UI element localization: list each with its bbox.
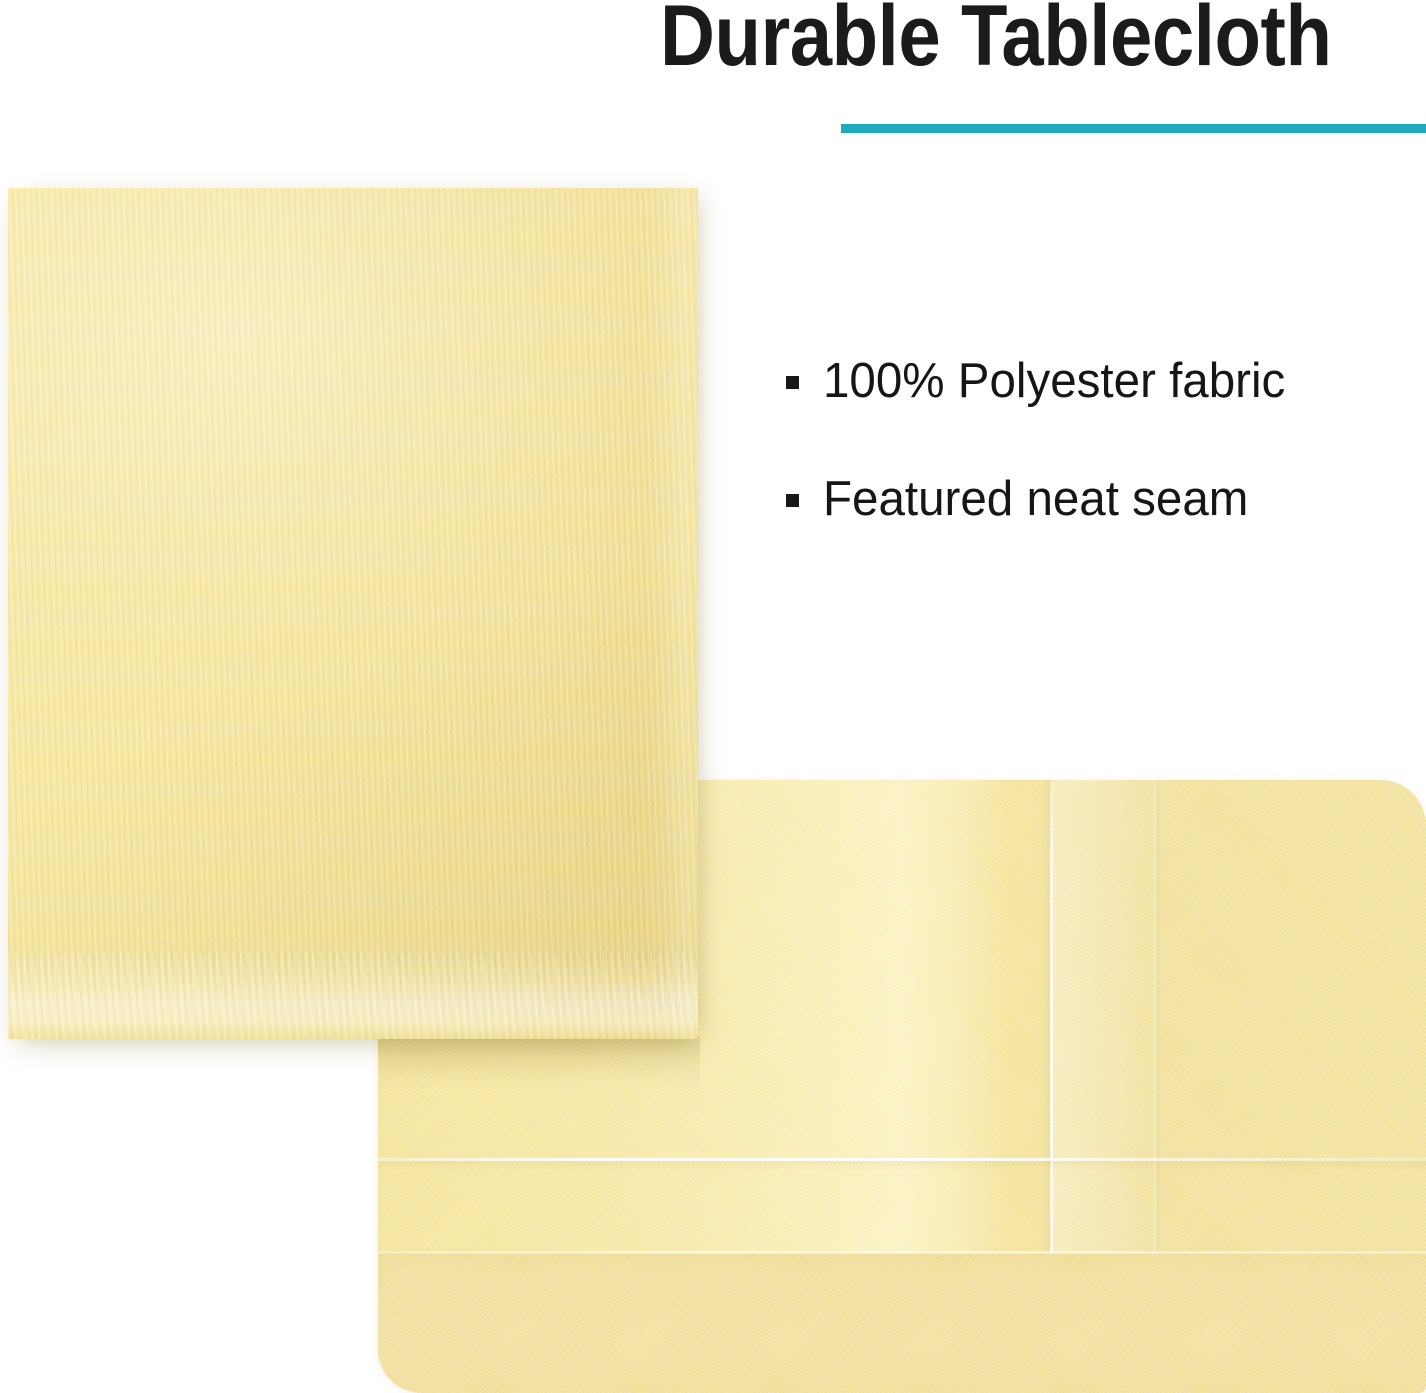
stack-right-face-highlight: [644, 188, 698, 1039]
page-title: Durable Tablecloth: [660, 0, 1338, 86]
folded-tablecloth-stack-image: [8, 188, 698, 1039]
feature-label: Featured neat seam: [823, 468, 1408, 530]
feature-list: 100% Polyester fabric Featured neat seam: [786, 350, 1426, 586]
title-underline-rule: [841, 124, 1426, 133]
square-bullet-icon: [786, 494, 799, 507]
heading-area: Durable Tablecloth: [0, 0, 1426, 150]
horizontal-hem-seam: [378, 1158, 1426, 1161]
stack-rolled-edge-ribs: [8, 953, 698, 1039]
horizontal-seam-shadow: [378, 1161, 1426, 1171]
product-feature-graphic: Durable Tablecloth 100% Polyester fabric…: [0, 0, 1426, 1393]
hem-crease-line: [378, 1251, 1426, 1254]
list-item: 100% Polyester fabric: [786, 350, 1426, 412]
square-bullet-icon: [786, 376, 799, 389]
hem-band-texture: [378, 1253, 1426, 1393]
list-item: Featured neat seam: [786, 468, 1426, 530]
fabric-sheen-overlay: [8, 188, 698, 1039]
feature-label: 100% Polyester fabric: [823, 350, 1408, 412]
